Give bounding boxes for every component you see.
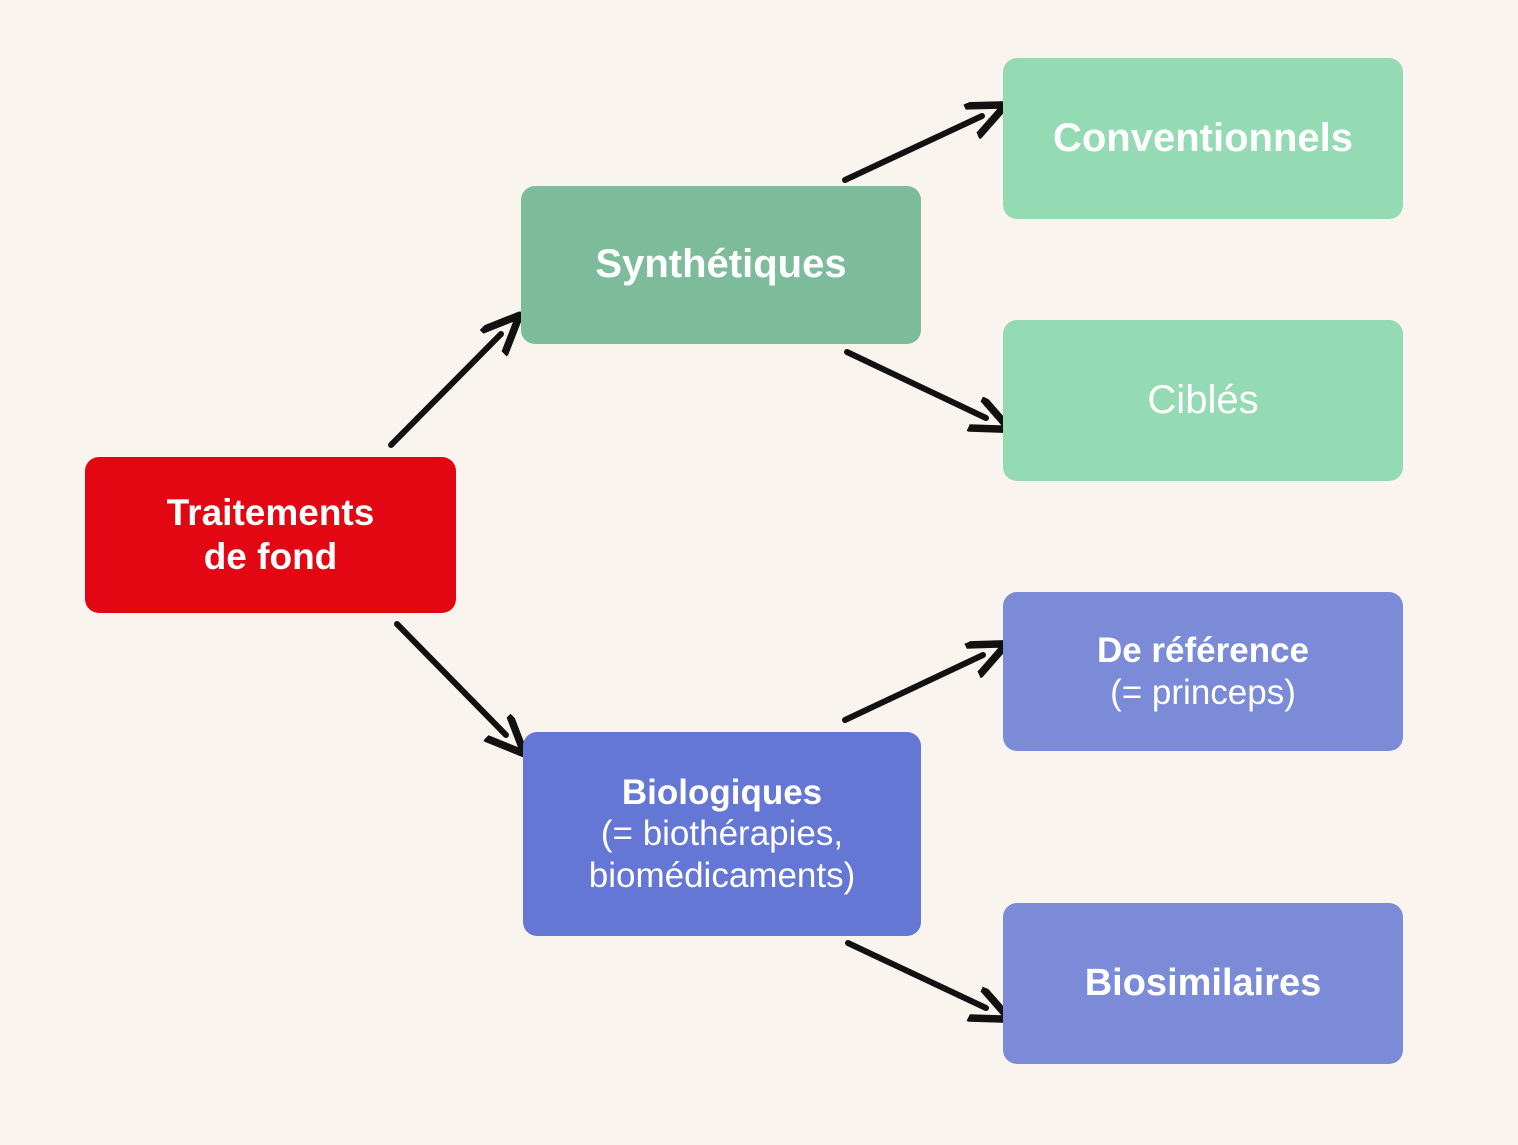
node-biologiques-line-1: Biologiques — [622, 772, 822, 813]
node-synthetiques[interactable]: Synthétiques — [521, 186, 921, 344]
node-biologiques-line-3: biomédicaments) — [589, 855, 856, 896]
node-cibles[interactable]: Ciblés — [1003, 320, 1403, 481]
node-root-line-2: de fond — [204, 535, 338, 579]
edge-biologiques-to-biosimilaires — [848, 943, 986, 1008]
node-conventionnels-label: Conventionnels — [1053, 115, 1353, 162]
node-root-line-1: Traitements — [167, 491, 375, 535]
diagram-canvas: Traitements de fond Synthétiques Biologi… — [0, 0, 1518, 1145]
node-synthetiques-label: Synthétiques — [595, 241, 846, 288]
node-biosimilaires[interactable]: Biosimilaires — [1003, 903, 1403, 1064]
edge-root-to-biologiques — [397, 624, 506, 735]
node-biologiques-line-2: (= biothérapies, — [601, 813, 843, 854]
node-biosimilaires-label: Biosimilaires — [1085, 961, 1322, 1006]
edge-synthetiques-to-conventionnels — [845, 116, 982, 180]
node-de-reference[interactable]: De référence (= princeps) — [1003, 592, 1403, 751]
node-cibles-label: Ciblés — [1147, 377, 1258, 424]
node-conventionnels[interactable]: Conventionnels — [1003, 58, 1403, 219]
node-biologiques[interactable]: Biologiques (= biothérapies, biomédicame… — [523, 732, 921, 936]
node-traitements-de-fond[interactable]: Traitements de fond — [85, 457, 456, 613]
node-reference-line-1: De référence — [1097, 630, 1309, 671]
edge-biologiques-to-reference — [845, 655, 983, 720]
node-reference-line-2: (= princeps) — [1110, 672, 1296, 713]
edge-synthetiques-to-cibles — [847, 352, 986, 418]
edge-root-to-synthetiques — [391, 334, 501, 445]
